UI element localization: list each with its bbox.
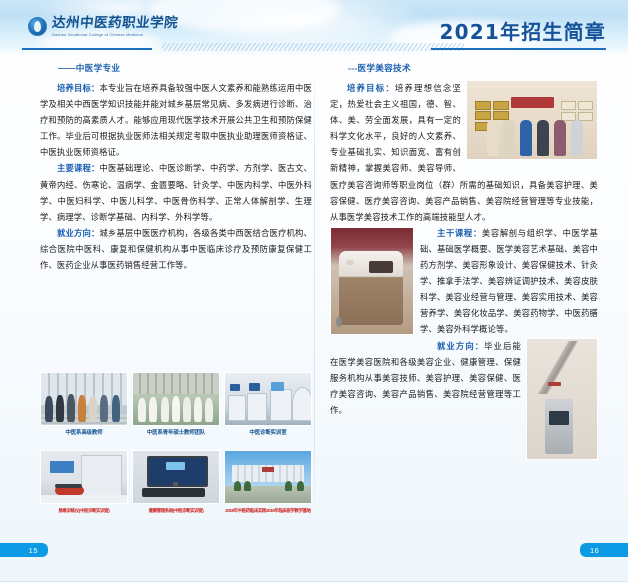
beauty-group-photo <box>466 80 598 160</box>
college-name-en: Dazhou Vocational College of Chinese Med… <box>52 33 178 37</box>
left-paragraph-3-lead: 就业方向： <box>57 228 100 238</box>
students-photo <box>132 372 220 426</box>
left-paragraph-3: 就业方向：城乡基层中医医疗机构，各级各类中西医结合医疗机构、综合医院中医科、康复… <box>40 225 312 273</box>
monitor-photo-caption: 健康管理系统(中医诊断实训室) <box>132 507 220 515</box>
right-paragraph-2-text: 美容解剖与组织学、中医学基础、基础医学概要、医学美容艺术基础、美容中药方剂学、美… <box>420 228 598 335</box>
left-section-title: ——中医学专业 <box>58 62 312 74</box>
right-paragraph-2-lead: 主干课程： <box>437 228 482 238</box>
right-section-title: ---医学美容技术 <box>348 62 598 74</box>
photo-cell: 脉象训练仪(中医诊断实训室) <box>40 450 128 515</box>
header-rule-left <box>22 48 152 50</box>
lab-photo-caption: 中医诊断实训室 <box>224 429 312 437</box>
page-header: 达州中医药职业学院 Dazhou Vocational College of C… <box>0 0 628 57</box>
left-paragraph-2-lead: 主要课程： <box>57 163 100 173</box>
photo-cell: 健康管理系统(中医诊断实训室) <box>132 450 220 515</box>
pulse-photo <box>40 450 128 504</box>
college-seal-icon <box>28 17 47 36</box>
photo-cell: 中医诊断实训室 <box>224 372 312 437</box>
left-paragraph-2: 主要课程：中医基础理论、中医诊断学、中药学、方剂学、医古文、黄帝内经、伤寒论、温… <box>40 160 312 224</box>
brochure-title: 2021年招生简章 <box>440 16 606 45</box>
left-photo-grid-row1: 中医系高级教师 中医系青年硕士教师团队 <box>40 372 312 437</box>
teachers-photo-caption: 中医系高级教师 <box>40 429 128 437</box>
beauty-device-photo <box>330 227 414 335</box>
right-paragraph-3-lead: 就业方向： <box>437 341 484 351</box>
page-spine <box>314 57 315 527</box>
teachers-photo <box>40 372 128 426</box>
college-logo: 达州中医药职业学院 Dazhou Vocational College of C… <box>28 17 178 37</box>
header-rule-right <box>431 48 606 50</box>
right-paragraph-1-lead: 培养目标： <box>347 83 395 93</box>
left-paragraph-1-text: 本专业旨在培养具备较强中医人文素养和能熟练运用中医学及相关中西医学知识技能并能对… <box>40 83 312 157</box>
lab-photo <box>224 372 312 426</box>
campus-photo-caption: 2019年中医药临床实践2019年临床医学教学基地 <box>224 507 312 515</box>
photo-cell: 2019年中医药临床实践2019年临床医学教学基地 <box>224 450 312 515</box>
monitor-photo <box>132 450 220 504</box>
students-photo-caption: 中医系青年硕士教师团队 <box>132 429 220 437</box>
left-photo-grid-row2: 脉象训练仪(中医诊断实训室) 健康管理系统(中医诊断实训室) <box>40 450 312 515</box>
right-paragraph-3-text: 毕业后能在医学美容医院和各级美容企业、健康管理、保健服务机构从事美容技师、美容护… <box>330 341 521 415</box>
header-hatch-decor <box>162 43 464 51</box>
laser-device-photo <box>526 338 598 460</box>
left-paragraph-1: 培养目标：本专业旨在培养具备较强中医人文素养和能熟练运用中医学及相关中西医学知识… <box>40 80 312 160</box>
pulse-photo-caption: 脉象训练仪(中医诊断实训室) <box>40 507 128 515</box>
photo-cell: 中医系高级教师 <box>40 372 128 437</box>
left-column: ——中医学专业 培养目标：本专业旨在培养具备较强中医人文素养和能熟练运用中医学及… <box>40 62 312 273</box>
campus-photo <box>224 450 312 504</box>
college-name-cn: 达州中医药职业学院 <box>51 17 178 31</box>
page-number-right: 16 <box>580 543 628 557</box>
right-column: ---医学美容技术 培养目标：培养理想信念坚定，热爱社会主义祖国，德、智、体、美… <box>330 62 598 463</box>
photo-cell: 中医系青年硕士教师团队 <box>132 372 220 437</box>
brochure-page: 达州中医药职业学院 Dazhou Vocational College of C… <box>0 0 628 582</box>
left-paragraph-1-lead: 培养目标： <box>57 83 100 93</box>
page-number-left: 15 <box>0 543 48 557</box>
